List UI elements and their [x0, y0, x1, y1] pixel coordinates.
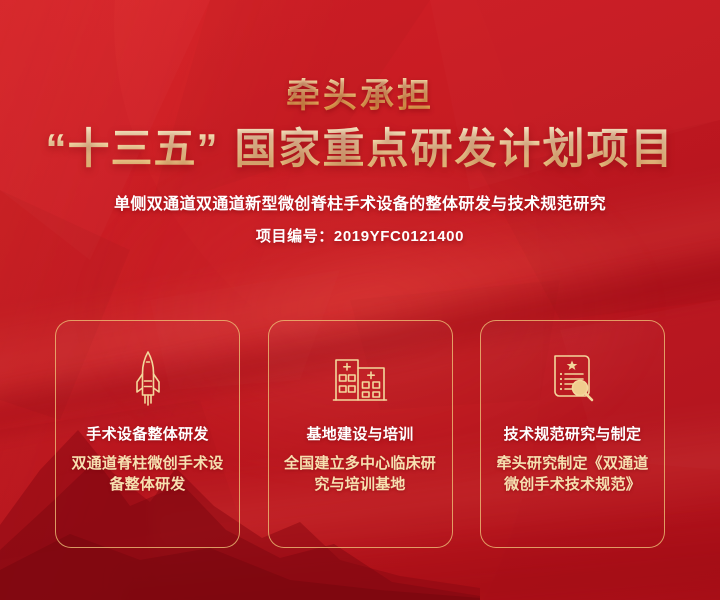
- feature-card-standards[interactable]: 技术规范研究与制定 牵头研究制定《双通道微创手术技术规范》: [480, 320, 665, 548]
- kicker-text: 牵头承担: [0, 78, 720, 115]
- hospital-icon: [332, 347, 388, 409]
- feature-card-body: 全国建立多中心临床研究与培训基地: [269, 453, 452, 496]
- title-quoted-part: “十三五”: [45, 125, 218, 172]
- rocket-icon: [128, 347, 168, 409]
- document-search-icon: [547, 347, 599, 409]
- project-subtitle: 单侧双通道双通道新型微创脊柱手术设备的整体研发与技术规范研究: [0, 190, 720, 214]
- feature-card-body: 牵头研究制定《双通道微创手术技术规范》: [481, 453, 664, 496]
- page-title: “十三五”国家重点研发计划项目: [0, 125, 720, 173]
- feature-card-title: 技术规范研究与制定: [504, 423, 642, 444]
- feature-card-training-base[interactable]: 基地建设与培训 全国建立多中心临床研究与培训基地: [268, 320, 453, 548]
- project-number: 项目编号：2019YFC0121400: [0, 225, 720, 246]
- feature-card-title: 基地建设与培训: [306, 423, 413, 444]
- feature-card-research[interactable]: 手术设备整体研发 双通道脊柱微创手术设备整体研发: [55, 320, 240, 548]
- header-block: 牵头承担 “十三五”国家重点研发计划项目 单侧双通道双通道新型微创脊柱手术设备的…: [0, 0, 720, 246]
- feature-card-title: 手术设备整体研发: [86, 423, 208, 444]
- feature-card-list: 手术设备整体研发 双通道脊柱微创手术设备整体研发: [55, 320, 665, 548]
- poster-banner: 牵头承担 “十三五”国家重点研发计划项目 单侧双通道双通道新型微创脊柱手术设备的…: [0, 0, 720, 600]
- feature-card-body: 双通道脊柱微创手术设备整体研发: [56, 453, 239, 496]
- title-rest-part: 国家重点研发计划项目: [235, 125, 675, 172]
